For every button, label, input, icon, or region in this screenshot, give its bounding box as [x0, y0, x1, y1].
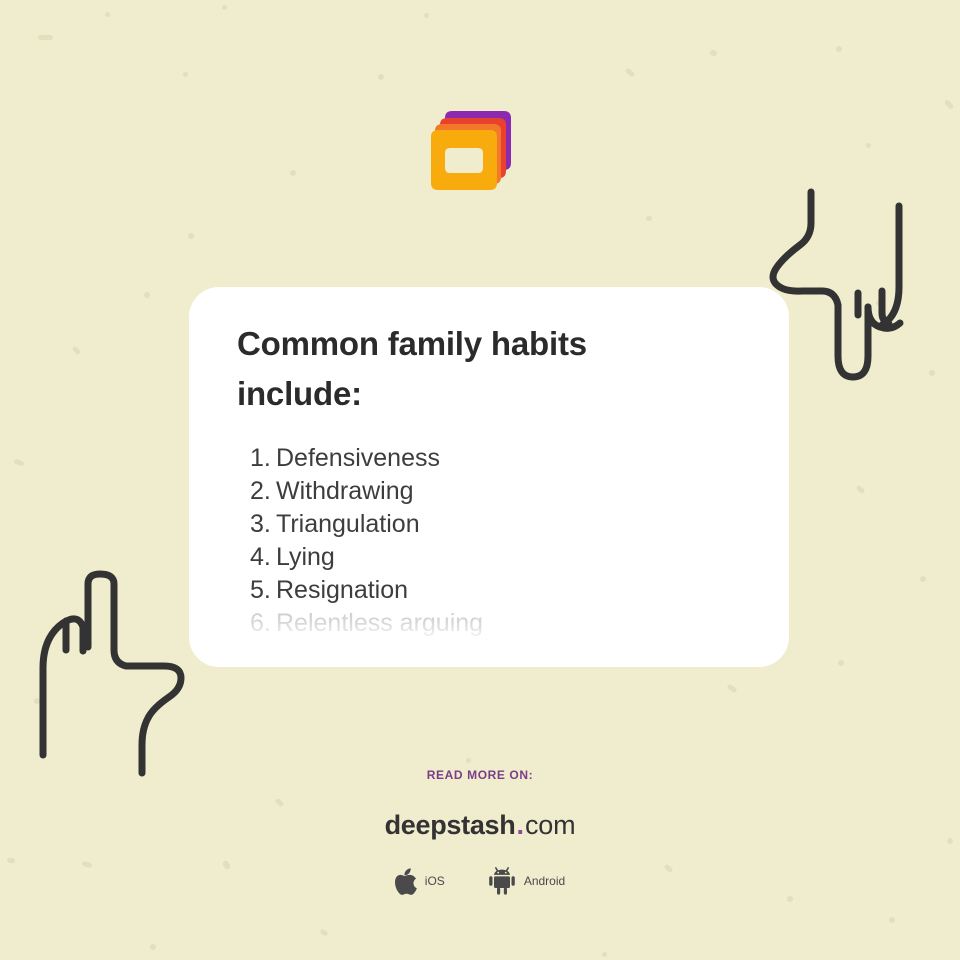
list-item-label: Withdrawing	[276, 475, 414, 508]
android-badge[interactable]: Android	[487, 867, 565, 895]
list-item-number: 2.	[250, 475, 276, 508]
speckle-dot	[424, 13, 429, 18]
list-item-number: 6.	[250, 607, 276, 640]
speckle-dot	[144, 292, 150, 298]
speckle-dot	[150, 944, 156, 950]
list-item-label: Lying	[276, 541, 335, 574]
habit-list: 1.Defensiveness2.Withdrawing3.Triangulat…	[237, 442, 743, 640]
speckle-dot	[319, 928, 328, 936]
ios-label: iOS	[425, 874, 445, 888]
list-item-number: 3.	[250, 508, 276, 541]
list-item-label: Relentless arguing	[276, 607, 483, 640]
brand-tld: com	[525, 810, 575, 840]
speckle-dot	[602, 952, 607, 957]
list-item-label: Resignation	[276, 574, 408, 607]
speckle-dot	[646, 216, 652, 221]
brand-dot: .	[515, 810, 525, 840]
list-item: 4.Lying	[250, 541, 743, 574]
deepstash-logo	[430, 105, 514, 195]
list-item: 1.Defensiveness	[250, 442, 743, 475]
brand-name: deepstash	[385, 810, 516, 840]
android-label: Android	[524, 874, 565, 888]
speckle-dot	[836, 46, 842, 52]
speckle-dot	[183, 72, 188, 77]
speckle-dot	[72, 346, 82, 356]
page-title: Common family habits include:	[237, 319, 667, 418]
speckle-dot	[855, 485, 865, 495]
list-item-label: Triangulation	[276, 508, 420, 541]
speckle-dot	[105, 12, 110, 17]
speckle-dot	[13, 458, 24, 466]
speckle-dot	[625, 67, 636, 77]
speckle-dot	[466, 758, 471, 763]
habit-card: Common family habits include: 1.Defensiv…	[189, 287, 789, 667]
speckle-dot	[38, 35, 53, 40]
habit-card-content: Common family habits include: 1.Defensiv…	[189, 287, 789, 667]
speckle-dot	[929, 370, 935, 376]
app-store-badges: iOS	[0, 867, 960, 895]
footer: READ MORE ON: deepstash.com iOS	[0, 768, 960, 895]
speckle-dot	[188, 233, 194, 239]
speckle-dot	[838, 660, 844, 666]
speckle-dot	[34, 698, 40, 704]
speckle-dot	[920, 576, 926, 582]
speckle-dot	[709, 49, 718, 58]
read-more-label: READ MORE ON:	[0, 768, 960, 782]
list-item: 3.Triangulation	[250, 508, 743, 541]
speckle-dot	[866, 143, 871, 148]
list-item: 2.Withdrawing	[250, 475, 743, 508]
list-item: 5.Resignation	[250, 574, 743, 607]
brand-wordmark[interactable]: deepstash.com	[0, 812, 960, 839]
speckle-dot	[726, 684, 737, 694]
speckle-dot	[290, 170, 296, 176]
speckle-dot	[222, 5, 227, 10]
poster-canvas: Common family habits include: 1.Defensiv…	[0, 0, 960, 960]
pointing-hand-up-icon	[26, 565, 201, 780]
ios-badge[interactable]: iOS	[395, 868, 445, 895]
list-item: 6.Relentless arguing	[250, 607, 743, 640]
speckle-dot	[876, 300, 882, 306]
speckle-dot	[889, 917, 895, 923]
speckle-dot	[787, 896, 793, 902]
list-item-number: 5.	[250, 574, 276, 607]
list-item-number: 1.	[250, 442, 276, 475]
apple-icon	[395, 868, 418, 895]
speckle-dot	[944, 99, 954, 110]
android-icon	[487, 867, 517, 895]
list-item-number: 4.	[250, 541, 276, 574]
list-item-label: Defensiveness	[276, 442, 440, 475]
speckle-dot	[378, 74, 384, 80]
